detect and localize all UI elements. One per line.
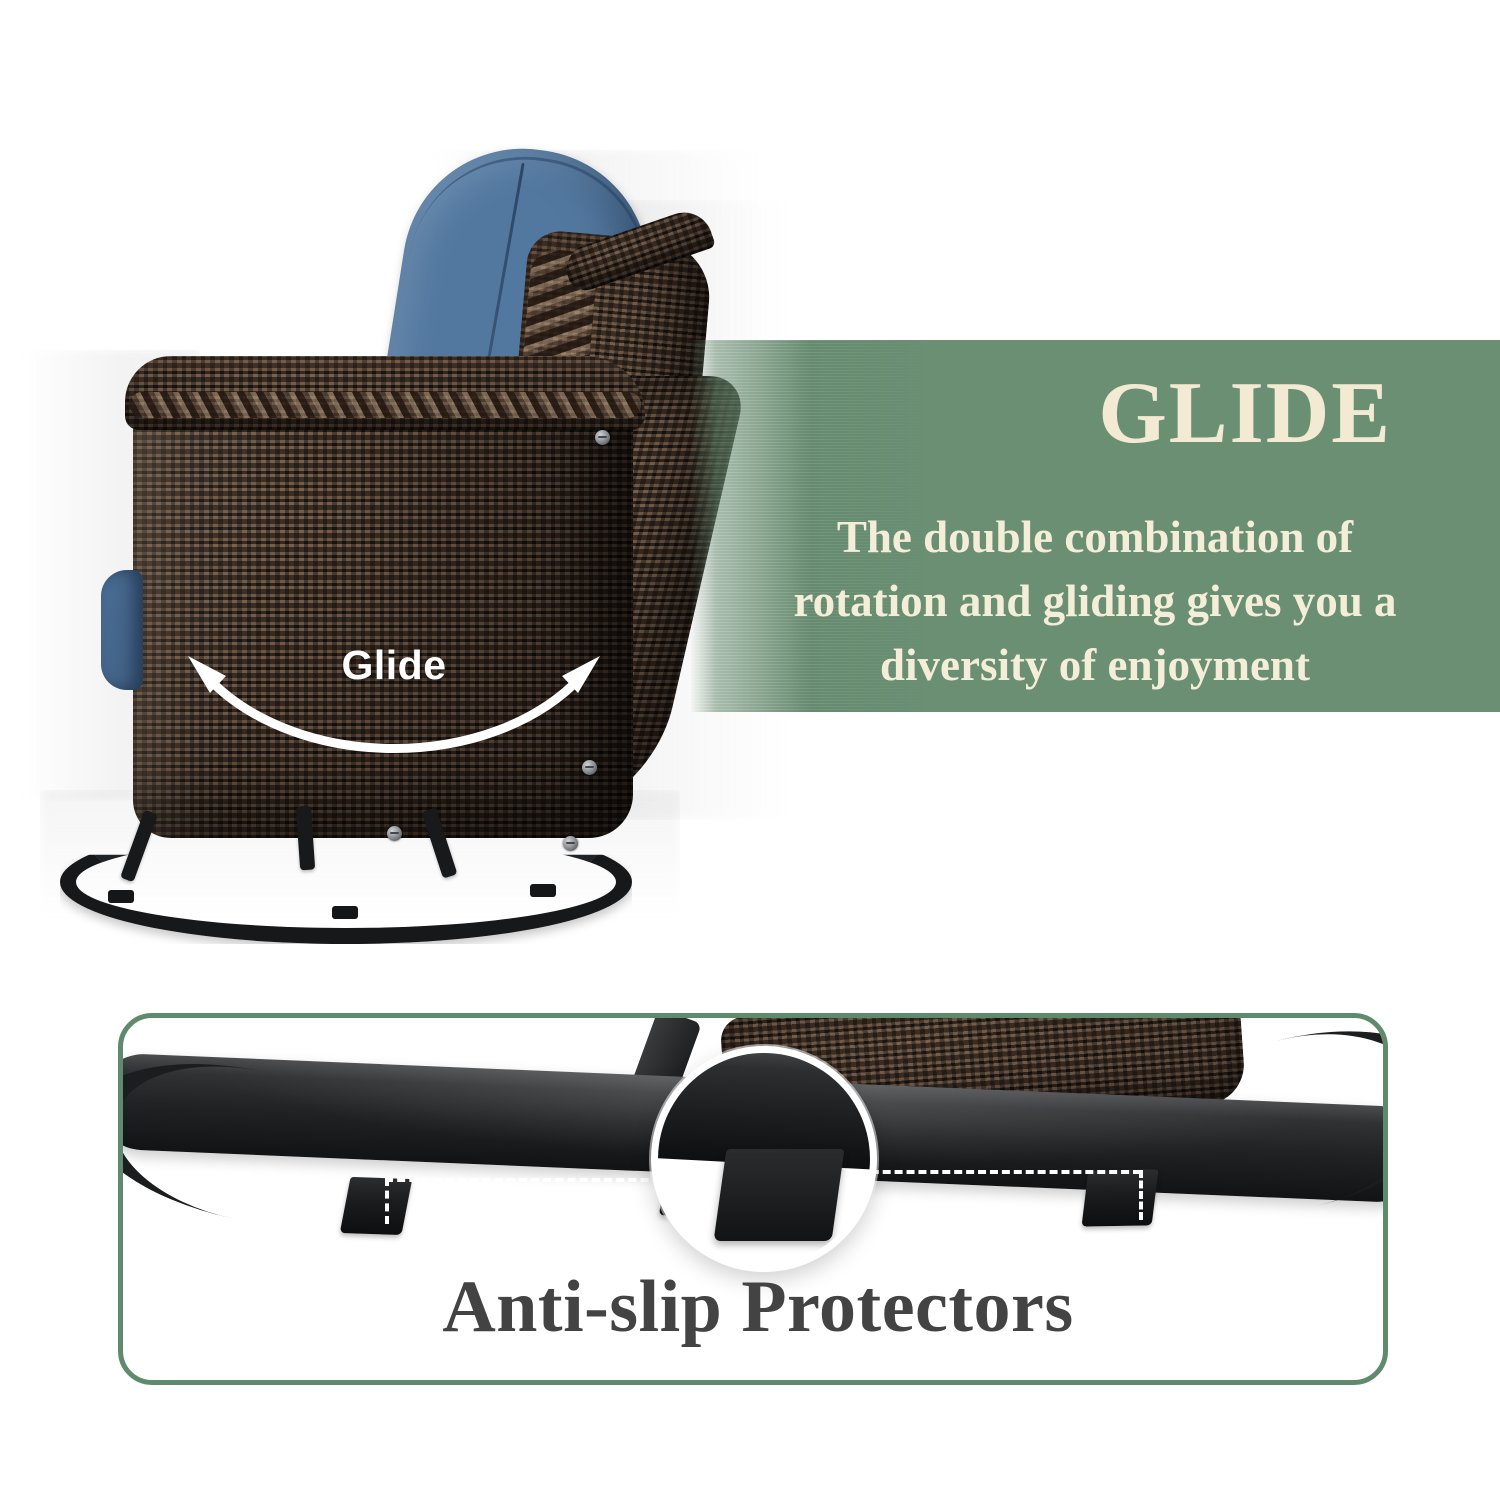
glider-chair-product-photo bbox=[95, 140, 735, 900]
guide-line-left-vertical bbox=[385, 1178, 389, 1224]
guide-line-left-horizontal bbox=[385, 1178, 685, 1182]
guide-line-right-horizontal bbox=[835, 1170, 1141, 1174]
magnified-anti-slip-foot bbox=[714, 1149, 845, 1241]
detail-title: Anti-slip Protectors bbox=[123, 1270, 1388, 1344]
anti-slip-detail-panel: Anti-slip Protectors bbox=[118, 1013, 1388, 1385]
panel-subtitle: The double combination of rotation and g… bbox=[750, 506, 1440, 698]
guide-line-right-vertical bbox=[1139, 1170, 1143, 1220]
wicker-armrest-braid bbox=[129, 392, 641, 418]
glide-info-panel: GLIDE The double combination of rotation… bbox=[690, 340, 1500, 712]
marketing-image-canvas: Glide GLIDE The double combination of ro… bbox=[0, 0, 1500, 1500]
magnifier-callout-circle bbox=[651, 1046, 877, 1272]
base-foot-left bbox=[108, 890, 134, 903]
frame-screw-back bbox=[595, 430, 610, 445]
anti-slip-foot-left bbox=[340, 1177, 412, 1235]
panel-title: GLIDE bbox=[690, 370, 1500, 458]
swivel-base-assembly bbox=[60, 806, 620, 916]
panel-subtitle-line-3: diversity of enjoyment bbox=[750, 634, 1440, 698]
panel-subtitle-line-2: rotation and gliding gives you a bbox=[750, 570, 1440, 634]
base-foot-center bbox=[332, 906, 358, 919]
base-foot-right bbox=[530, 884, 556, 897]
panel-subtitle-line-1: The double combination of bbox=[750, 506, 1440, 570]
glide-annotation: Glide bbox=[168, 636, 620, 786]
cushion-edge-sliver bbox=[101, 570, 143, 690]
anti-slip-foot-right bbox=[1081, 1169, 1158, 1226]
glide-double-arrow-icon bbox=[168, 636, 620, 786]
